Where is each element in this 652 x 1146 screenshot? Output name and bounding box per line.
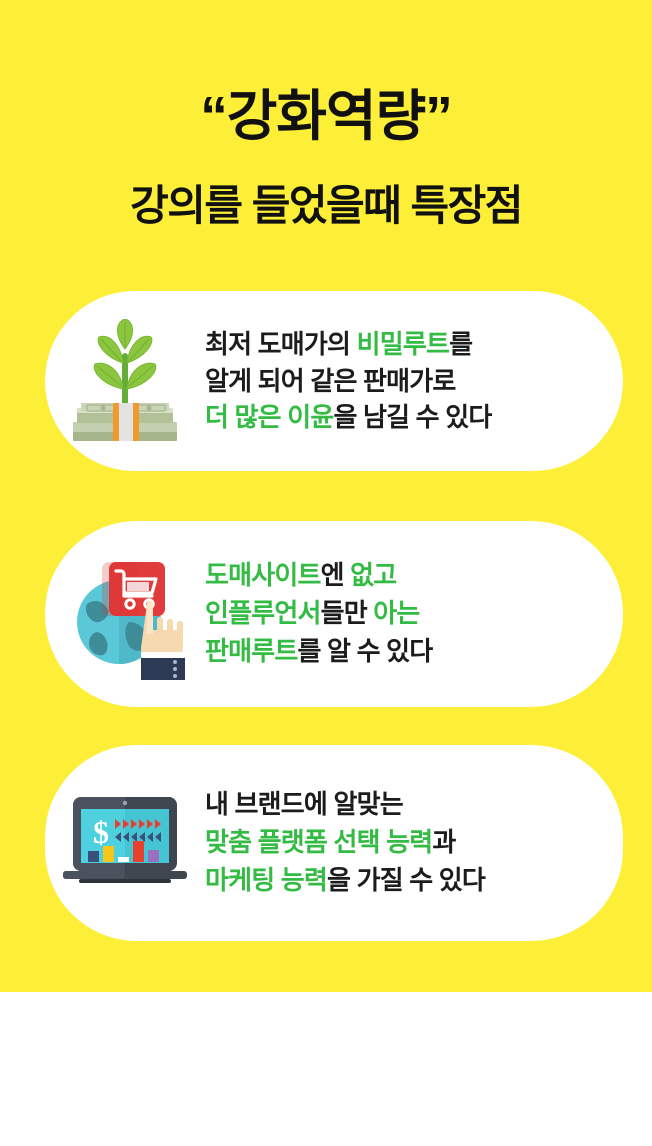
card-icon-slot: $ <box>45 791 205 895</box>
poster-root: “강화역량” 강의를 들었을때 특장점 <box>0 0 652 1146</box>
card-line: 알게 되어 같은 판매가로 <box>205 363 623 400</box>
plain-text: 최저 도매가의 <box>205 329 357 359</box>
plain-text: 을 남길 수 있다 <box>333 402 491 432</box>
laptop-dollar-chart-icon: $ <box>55 791 195 895</box>
benefit-card: 도매사이트엔 없고인플루언서들만 아는판매루트를 알 수 있다 <box>45 521 623 707</box>
plain-text: 내 브랜드에 알맞는 <box>205 789 403 819</box>
benefit-card: 최저 도매가의 비밀루트를알게 되어 같은 판매가로더 많은 이윤을 남길 수 … <box>45 291 623 471</box>
card-line: 더 많은 이윤을 남길 수 있다 <box>205 399 623 436</box>
page-subtitle: 강의를 들었을때 특장점 <box>0 183 652 229</box>
benefit-card: $ <box>45 745 623 941</box>
plain-text: 엔 <box>321 560 351 590</box>
card-line: 맞춤 플랫폼 선택 능력과 <box>205 824 623 862</box>
plain-text: 를 알 수 있다 <box>297 636 432 666</box>
card-icon-slot <box>45 319 205 443</box>
card-line: 인플루언서들만 아는 <box>205 595 623 633</box>
svg-text:$: $ <box>93 814 109 850</box>
highlight-text: 마케팅 능력 <box>205 865 327 895</box>
highlight-text: 없고 <box>350 560 396 590</box>
highlight-text: 인플루언서 <box>205 598 321 628</box>
highlight-text: 아는 <box>373 598 419 628</box>
card-line: 최저 도매가의 비밀루트를 <box>205 326 623 363</box>
page-title: “강화역량” <box>0 88 652 146</box>
highlight-text: 도매사이트 <box>205 560 321 590</box>
card-text: 내 브랜드에 알맞는맞춤 플랫폼 선택 능력과마케팅 능력을 가질 수 있다 <box>205 786 623 900</box>
card-text: 도매사이트엔 없고인플루언서들만 아는판매루트를 알 수 있다 <box>205 557 623 671</box>
card-line: 판매루트를 알 수 있다 <box>205 633 623 671</box>
plain-text: 알게 되어 같은 판매가로 <box>205 366 455 396</box>
plain-text: 를 <box>449 329 472 359</box>
highlight-text: 더 많은 이윤 <box>205 402 333 432</box>
highlight-text: 판매루트 <box>205 636 297 666</box>
card-line: 내 브랜드에 알맞는 <box>205 786 623 824</box>
globe-cart-click-icon <box>63 548 187 680</box>
plain-text: 을 가질 수 있다 <box>327 865 485 895</box>
plain-text: 과 <box>432 827 455 857</box>
card-line: 마케팅 능력을 가질 수 있다 <box>205 862 623 900</box>
card-icon-slot <box>45 548 205 680</box>
plain-text: 들만 <box>321 598 374 628</box>
money-plant-growth-icon <box>63 319 187 443</box>
highlight-text: 맞춤 플랫폼 선택 능력 <box>205 827 432 857</box>
card-text: 최저 도매가의 비밀루트를알게 되어 같은 판매가로더 많은 이윤을 남길 수 … <box>205 326 623 437</box>
money-stack <box>73 403 177 441</box>
highlight-text: 비밀루트 <box>357 329 449 359</box>
card-line: 도매사이트엔 없고 <box>205 557 623 595</box>
